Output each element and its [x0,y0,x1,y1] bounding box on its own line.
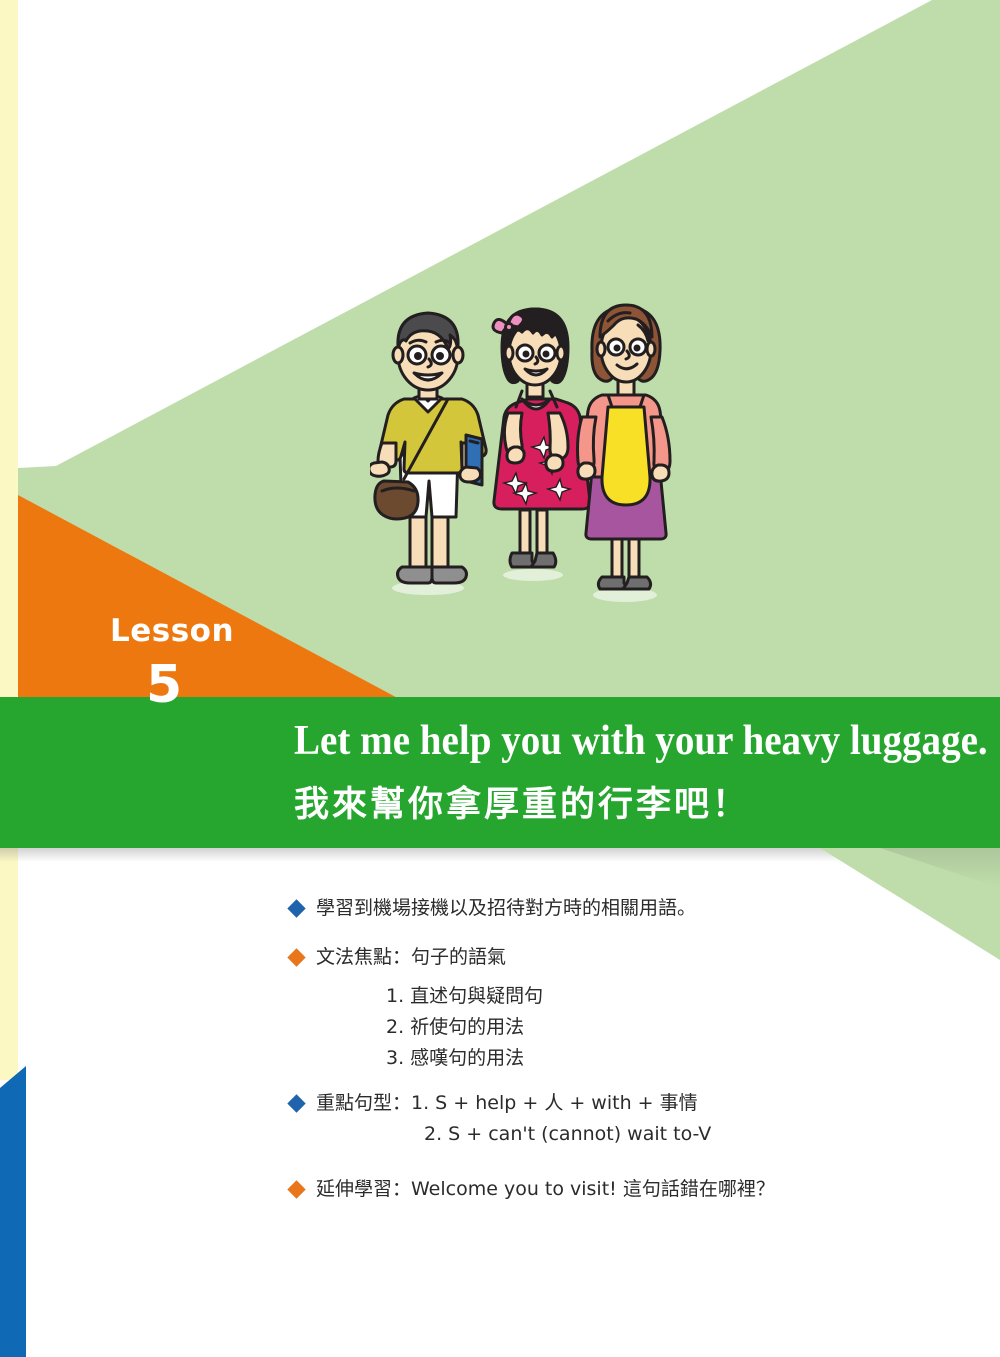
objective-text-2: 文法焦點：句子的語氣 [316,942,506,973]
blue-diamond-icon [287,1094,305,1112]
lesson-label: Lesson [110,613,234,649]
objective-text-3: 重點句型： [316,1092,411,1114]
orange-diamond-icon [287,1180,305,1198]
grammar-sub-item-3: 3. 感嘆句的用法 [386,1043,930,1074]
shadow-girl [503,569,563,581]
cover-illustration: .ln { stroke:#231f20; stroke-width:3; st… [370,295,720,615]
grammar-sub-list: 1. 直述句與疑問句 2. 祈使句的用法 3. 感嘆句的用法 [386,981,930,1074]
grammar-sub-item-1: 1. 直述句與疑問句 [386,981,930,1012]
objective-item-1: 學習到機場接機以及招待對方時的相關用語。 [290,893,930,924]
objective-item-4: 延伸學習：Welcome you to visit! 這句話錯在哪裡？ [290,1174,930,1205]
grammar-sub-item-2: 2. 祈使句的用法 [386,1012,930,1043]
objective-item-3: 重點句型：1. S + help + 人 + with + 事情 2. S + … [290,1088,930,1150]
figure-woman-apron [578,305,671,589]
sentence-pattern-1: 1. S + help + 人 + with + 事情 [411,1092,698,1114]
left-edge-yellow-strip [0,0,18,1080]
sentence-pattern-group: 重點句型：1. S + help + 人 + with + 事情 2. S + … [316,1088,711,1150]
lesson-number: 5 [146,655,182,715]
objective-text-1: 學習到機場接機以及招待對方時的相關用語。 [316,893,696,924]
objectives-list: 學習到機場接機以及招待對方時的相關用語。 文法焦點：句子的語氣 1. 直述句與疑… [290,893,930,1213]
sentence-pattern-2: 2. S + can't (cannot) wait to-V [424,1119,711,1150]
objective-item-2: 文法焦點：句子的語氣 [290,942,930,973]
title-english: Let me help you with your heavy luggage. [294,717,988,765]
figure-girl-pink-dress [493,309,590,567]
title-chinese: 我來幫你拿厚重的行李吧！ [294,776,750,827]
lesson-cover-page: .ln { stroke:#231f20; stroke-width:3; st… [0,0,1000,1357]
left-edge-blue-strip [0,1066,26,1357]
objective-text-4: 延伸學習：Welcome you to visit! 這句話錯在哪裡？ [316,1174,775,1205]
figure-boy-student [370,313,486,583]
orange-diamond-icon [287,948,305,966]
blue-diamond-icon [287,899,305,917]
